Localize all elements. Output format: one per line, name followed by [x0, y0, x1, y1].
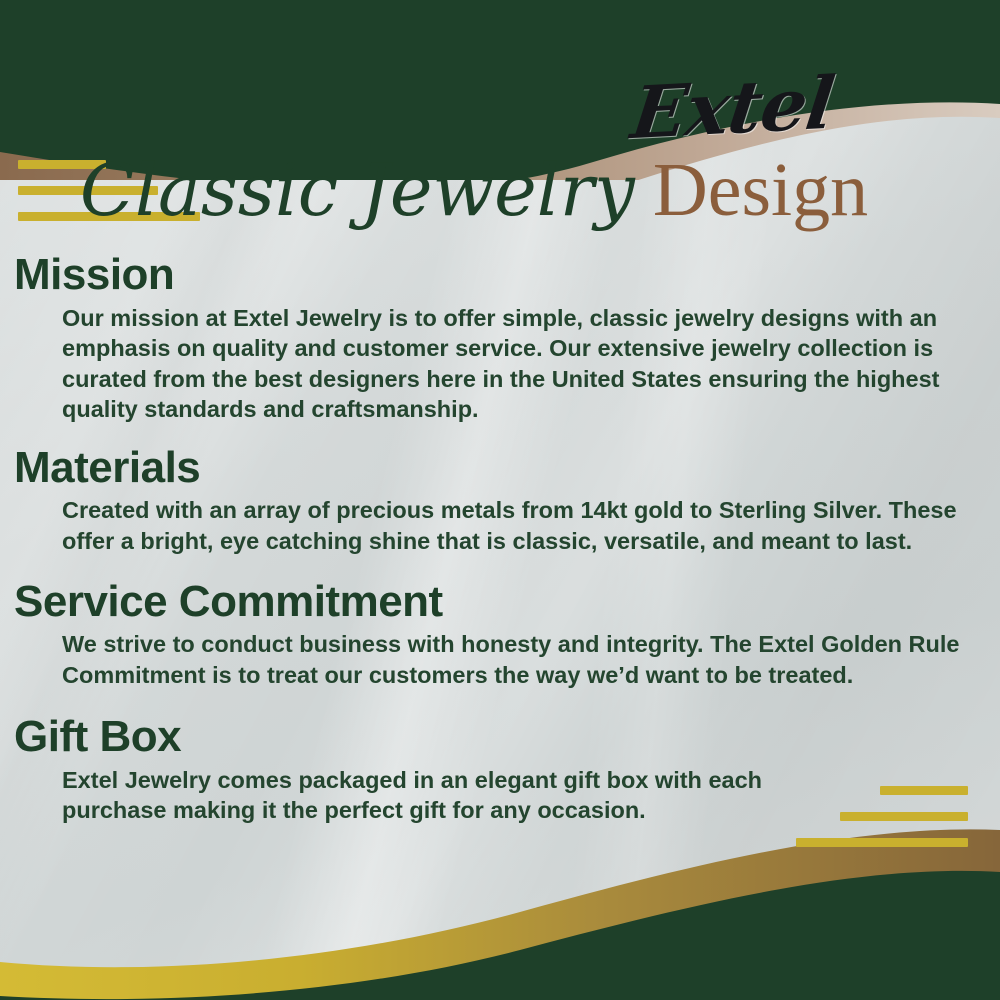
section-mission: Mission Our mission at Extel Jewelry is …: [14, 252, 986, 425]
title-serif-part: Design: [653, 148, 868, 232]
brand-logo: Extel: [628, 67, 838, 149]
title-script-part: Classic Jewelry: [80, 148, 635, 232]
content-sections: Mission Our mission at Extel Jewelry is …: [14, 252, 986, 844]
section-heading: Materials: [14, 445, 986, 492]
section-gift-box: Gift Box Extel Jewelry comes packaged in…: [14, 714, 986, 826]
section-materials: Materials Created with an array of preci…: [14, 445, 986, 557]
section-heading: Service Commitment: [14, 579, 986, 626]
section-heading: Gift Box: [14, 714, 986, 761]
section-body: Our mission at Extel Jewelry is to offer…: [62, 303, 972, 425]
section-body: We strive to conduct business with hones…: [62, 629, 972, 690]
section-heading: Mission: [14, 252, 986, 299]
page-title: Classic JewelryDesign: [0, 152, 1000, 228]
section-body: Extel Jewelry comes packaged in an elega…: [62, 765, 762, 826]
section-body: Created with an array of precious metals…: [62, 495, 972, 556]
section-service-commitment: Service Commitment We strive to conduct …: [14, 579, 986, 691]
poster: Extel Classic JewelryDesign Mission Our …: [0, 0, 1000, 1000]
